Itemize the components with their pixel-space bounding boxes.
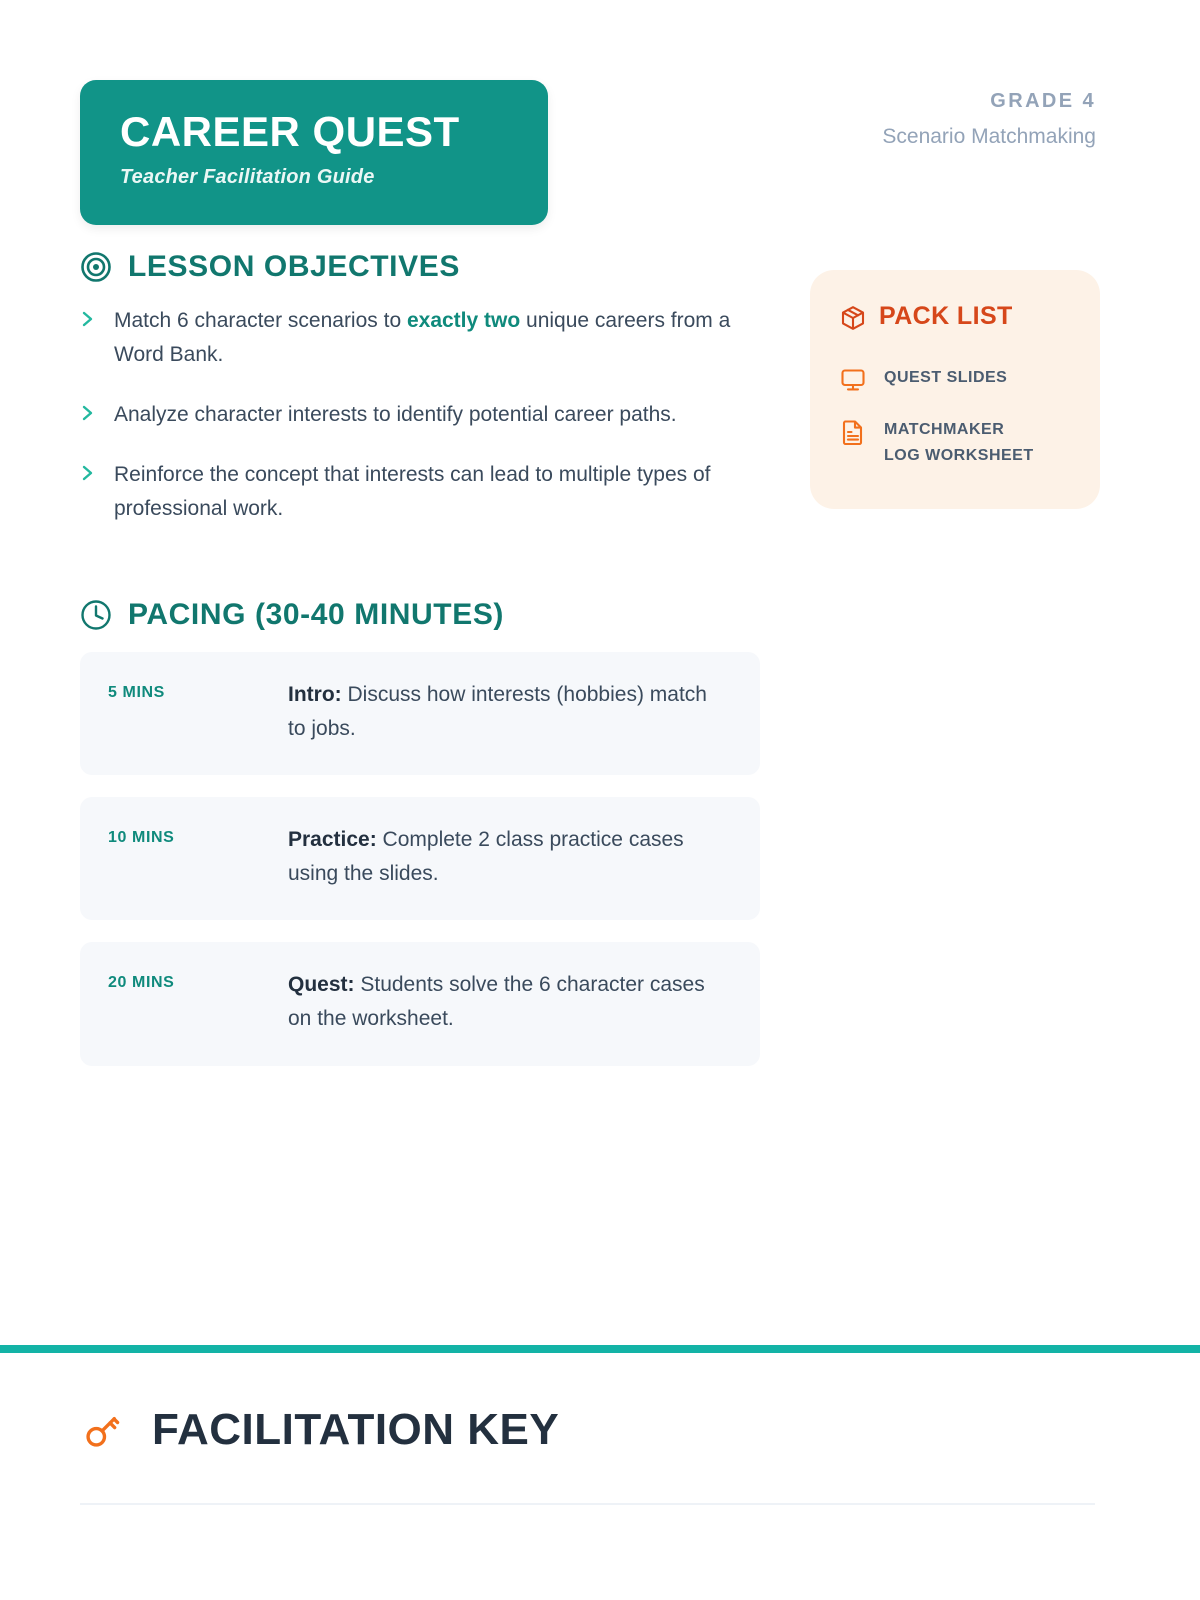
pack-list-card: PACK LIST QUEST SLIDES [810, 270, 1100, 509]
header-meta: GRADE 4 Scenario Matchmaking [882, 80, 1096, 154]
chevron-right-icon [80, 404, 96, 422]
left-column: LESSON OBJECTIVES Match 6 character scen… [80, 250, 760, 1088]
pacing-row: 20 MINS Quest: Students solve the 6 char… [80, 942, 760, 1065]
objective-text-pre: Match 6 character scenarios to [114, 309, 407, 332]
pacing-label: Quest: [288, 973, 355, 996]
pack-list-item-label: QUEST SLIDES [884, 365, 1007, 391]
facilitation-key-rule [80, 1503, 1095, 1505]
pacing-text: Discuss how interests (hobbies) match to… [288, 683, 707, 740]
pacing-header: PACING (30-40 MINUTES) [80, 598, 760, 632]
pack-list-header: PACK LIST [840, 302, 1072, 331]
pacing-time: 5 MINS [108, 678, 288, 702]
objective-item: Reinforce the concept that interests can… [80, 458, 760, 526]
facilitation-key-title: FACILITATION KEY [152, 1405, 559, 1455]
pacing-description: Practice: Complete 2 class practice case… [288, 823, 730, 890]
pack-list-item-label: MATCHMAKER LOG WORKSHEET [884, 417, 1044, 469]
objective-item: Match 6 character scenarios to exactly t… [80, 304, 760, 372]
objective-text: Analyze character interests to identify … [114, 398, 677, 432]
facilitation-key-section: FACILITATION KEY [80, 1405, 1120, 1505]
chevron-right-icon [80, 464, 96, 482]
pacing-label: Intro: [288, 683, 342, 706]
monitor-icon [840, 367, 866, 393]
title-card: CAREER QUEST Teacher Facilitation Guide [80, 80, 548, 225]
grade-label: GRADE 4 [882, 86, 1096, 116]
objective-item: Analyze character interests to identify … [80, 398, 760, 432]
box-icon [840, 305, 866, 331]
pacing-time: 20 MINS [108, 968, 288, 992]
page-subtitle: Teacher Facilitation Guide [120, 166, 508, 189]
worksheet-page: CAREER QUEST Teacher Facilitation Guide … [0, 0, 1200, 1600]
pacing-row: 5 MINS Intro: Discuss how interests (hob… [80, 652, 760, 775]
pack-list-item: QUEST SLIDES [840, 365, 1072, 393]
facilitation-key-header: FACILITATION KEY [80, 1405, 1120, 1455]
objective-text-pre: Analyze character interests to identify … [114, 403, 677, 426]
objective-text-highlight: exactly two [407, 309, 520, 332]
right-column: PACK LIST QUEST SLIDES [810, 270, 1100, 509]
pacing-label: Practice: [288, 828, 377, 851]
document-icon [840, 419, 866, 445]
objective-text: Reinforce the concept that interests can… [114, 458, 760, 526]
pack-list-title: PACK LIST [879, 302, 1013, 331]
pack-list-item: MATCHMAKER LOG WORKSHEET [840, 417, 1072, 469]
objective-text-pre: Reinforce the concept that interests can… [114, 463, 711, 520]
page-title: CAREER QUEST [120, 110, 508, 154]
objectives-list: Match 6 character scenarios to exactly t… [80, 304, 760, 526]
page-header: CAREER QUEST Teacher Facilitation Guide … [0, 0, 1200, 250]
pacing-description: Intro: Discuss how interests (hobbies) m… [288, 678, 730, 745]
pacing-title: PACING (30-40 MINUTES) [128, 598, 504, 632]
lesson-objectives-header: LESSON OBJECTIVES [80, 250, 760, 284]
pacing-row: 10 MINS Practice: Complete 2 class pract… [80, 797, 760, 920]
pacing-section: PACING (30-40 MINUTES) 5 MINS Intro: Dis… [80, 598, 760, 1066]
pacing-description: Quest: Students solve the 6 character ca… [288, 968, 730, 1035]
unit-label: Scenario Matchmaking [882, 120, 1096, 154]
target-icon [80, 251, 112, 283]
lesson-objectives-title: LESSON OBJECTIVES [128, 250, 460, 284]
pacing-time: 10 MINS [108, 823, 288, 847]
key-icon [80, 1407, 126, 1453]
clock-icon [80, 599, 112, 631]
objective-text: Match 6 character scenarios to exactly t… [114, 304, 760, 372]
chevron-right-icon [80, 310, 96, 328]
section-divider-bar [0, 1345, 1200, 1353]
